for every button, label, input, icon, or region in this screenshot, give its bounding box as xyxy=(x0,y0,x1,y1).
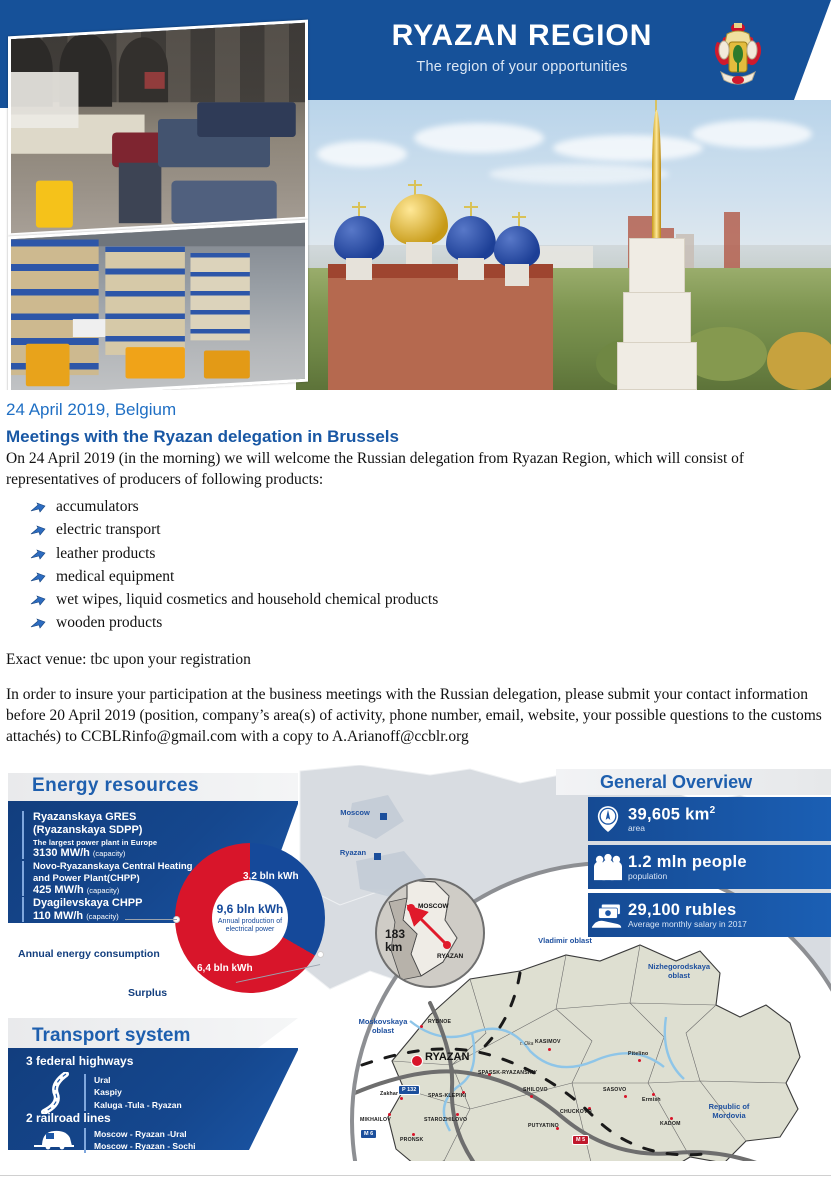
map-label-ryazan-capital: RYAZAN xyxy=(425,1051,469,1063)
inset-distance-unit: km xyxy=(385,940,402,954)
overview-value: 29,100 rubles xyxy=(628,901,747,920)
poster-page: RYAZAN REGION The region of your opportu… xyxy=(0,0,831,1186)
overview-value: 39,605 km2 xyxy=(628,805,715,825)
hero-title-block: RYAZAN REGION The region of your opportu… xyxy=(352,20,692,75)
footer-divider xyxy=(0,1175,831,1176)
overview-row-salary: 29,100 rubles Average monthly salary in … xyxy=(588,893,831,937)
overview-row-area: 39,605 km2 area xyxy=(588,797,831,841)
list-item: wooden products xyxy=(30,611,831,634)
overview-label: area xyxy=(628,823,715,833)
map-label-republic-of-mordovia: Republic of Mordovia xyxy=(690,1103,768,1120)
donut-caption-surplus: Surplus xyxy=(128,987,167,999)
transport-panel-body: 3 federal highways Ural Kaspiy Kaluga -T… xyxy=(8,1048,298,1150)
city-label: RYBNOE xyxy=(428,1019,451,1025)
donut-label-consumption: 6,4 bln kWh xyxy=(197,963,253,974)
assumption-cathedral xyxy=(328,205,553,390)
product-label: electric transport xyxy=(56,521,161,538)
arrow-bullet-icon xyxy=(30,615,48,629)
city-label: SASOVO xyxy=(603,1087,626,1093)
donut-total-label: Annual production of electrical power xyxy=(218,918,282,934)
article-intro: On 24 April 2019 (in the morning) we wil… xyxy=(6,449,825,490)
map-pin-icon xyxy=(588,805,628,833)
arrow-bullet-icon xyxy=(30,592,48,606)
article-heading: Meetings with the Ryazan delegation in B… xyxy=(6,427,831,447)
highway-item: Kaspiy xyxy=(94,1086,182,1098)
venue-text: Exact venue: tbc upon your registration xyxy=(6,650,825,671)
ryazan-capital-dot xyxy=(411,1055,423,1067)
plant-name-line1: Dyagilevskaya CHPP xyxy=(33,897,142,910)
plant-name-line1: Novo-Ryazanskaya Central Heating xyxy=(33,861,192,873)
overview-text: 39,605 km2 area xyxy=(628,805,715,834)
railroad-list: Moscow - Ryazan -Ural Moscow - Ryazan - … xyxy=(84,1128,196,1153)
donut-caption-consumption: Annual energy consumption xyxy=(18,948,160,960)
general-overview-title: General Overview xyxy=(600,772,752,793)
product-label: accumulators xyxy=(56,498,139,515)
highways-title: 3 federal highways xyxy=(26,1054,133,1068)
map-label-nizhegorodskaya-oblast: Nizhegorodskaya oblast xyxy=(640,963,718,980)
product-label: wet wipes, liquid cosmetics and househol… xyxy=(56,591,438,608)
list-item: accumulators xyxy=(30,495,831,518)
overview-value: 1.2 mln people xyxy=(628,853,747,872)
arrow-bullet-icon xyxy=(30,499,48,513)
railroads-title: 2 railroad lines xyxy=(26,1111,111,1125)
arrow-bullet-icon xyxy=(30,569,48,583)
city-label: Ermish xyxy=(642,1097,661,1103)
railroad-item: Moscow - Ryazan -Ural xyxy=(94,1128,196,1140)
city-label: PUTYATINO xyxy=(528,1123,559,1129)
moscow-ryazan-inset: MOSCOW RYAZAN 183 km xyxy=(375,878,485,988)
bell-tower xyxy=(611,100,703,390)
highway-item: Ural xyxy=(94,1074,182,1086)
article-date-location: 24 April 2019, Belgium xyxy=(6,400,831,420)
money-hand-icon xyxy=(588,902,628,929)
road-shield: P 132 xyxy=(398,1085,420,1095)
textile-factory-photo xyxy=(8,20,308,237)
article-content: 24 April 2019, Belgium Meetings with the… xyxy=(0,390,831,747)
power-plant-item: Ryazanskaya GRES (Ryazanskaya SDPP) The … xyxy=(22,811,157,859)
city-label: PRONSK xyxy=(400,1137,423,1143)
donut-label-surplus: 3,2 bln kWh xyxy=(243,871,299,882)
product-list: accumulators electric transport leather … xyxy=(0,495,831,635)
warehouse-photo xyxy=(8,220,308,390)
infographic: Moscow Ryazan xyxy=(0,765,831,1161)
list-item: medical equipment xyxy=(30,565,831,588)
plant-name-line2: and Power Plant(CHPP) xyxy=(33,873,192,885)
map-label-moskovskaya-oblast: Moskovskaya oblast xyxy=(348,1018,418,1035)
inset-label-ryazan: RYAZAN xyxy=(437,953,463,960)
hero-banner: RYAZAN REGION The region of your opportu… xyxy=(0,0,831,390)
page-subtitle: The region of your opportunities xyxy=(352,59,692,75)
river-label-oka: r. Oka xyxy=(520,1041,533,1047)
plant-note: The largest power plant in Europe xyxy=(33,838,157,847)
city-label: Pitelino xyxy=(628,1051,648,1057)
list-item: leather products xyxy=(30,542,831,565)
product-label: wooden products xyxy=(56,614,162,631)
donut-total-value: 9,6 bln kWh xyxy=(217,902,284,916)
list-item: wet wipes, liquid cosmetics and househol… xyxy=(30,588,831,611)
overview-label: population xyxy=(628,871,747,881)
plant-capacity: 425 MW/h (capacity) xyxy=(33,884,192,896)
plant-name-line2: (Ryazanskaya SDPP) xyxy=(33,824,157,837)
inset-distance: 183 km xyxy=(385,928,405,953)
inset-label-moscow: MOSCOW xyxy=(418,903,449,910)
registration-text: In order to insure your participation at… xyxy=(6,685,825,747)
city-label: KADOM xyxy=(660,1121,681,1127)
transport-panel-title: Transport system xyxy=(32,1025,190,1047)
page-title: RYAZAN REGION xyxy=(352,20,692,52)
highway-icon xyxy=(32,1072,76,1114)
city-label: CHUCKOVO xyxy=(560,1109,592,1115)
road-shield: M 6 xyxy=(360,1129,377,1139)
product-label: medical equipment xyxy=(56,568,174,585)
city-label: STAROZHILOVO xyxy=(424,1117,467,1123)
city-label: SHILOVO xyxy=(523,1087,548,1093)
highway-list: Ural Kaspiy Kaluga -Tula - Ryazan xyxy=(84,1074,182,1111)
donut-center: 9,6 bln kWh Annual production of electri… xyxy=(212,880,288,956)
power-plant-item: Novo-Ryazanskaya Central Heating and Pow… xyxy=(22,861,192,896)
ryazan-kremlin-photo xyxy=(296,100,831,390)
city-label: SPASSK-RYAZANSKIY xyxy=(478,1070,537,1076)
map-label-vladimir-oblast: Vladimir oblast xyxy=(520,937,610,946)
overview-row-population: 1.2 mln people population xyxy=(588,845,831,889)
overview-text: 29,100 rubles Average monthly salary in … xyxy=(628,901,747,929)
railroad-item: Moscow - Ryazan - Sochi xyxy=(94,1140,196,1152)
arrow-bullet-icon xyxy=(30,522,48,536)
plant-name-line1: Ryazanskaya GRES xyxy=(33,811,157,824)
ryazan-coat-of-arms-icon xyxy=(703,20,773,94)
product-label: leather products xyxy=(56,545,155,562)
highway-item: Kaluga -Tula - Ryazan xyxy=(94,1099,182,1111)
plant-capacity: 110 MW/h (capacity) xyxy=(33,910,142,922)
overview-text: 1.2 mln people population xyxy=(628,853,747,881)
list-item: electric transport xyxy=(30,518,831,541)
plant-capacity: 3130 MW/h (capacity) xyxy=(33,847,157,859)
people-icon xyxy=(588,853,628,881)
road-shield: M 5 xyxy=(572,1135,589,1145)
city-label: SPAS-KLEPIKI xyxy=(428,1093,466,1099)
energy-panel-title: Energy resources xyxy=(32,775,199,797)
energy-donut-chart: 9,6 bln kWh Annual production of electri… xyxy=(175,843,325,993)
train-icon xyxy=(32,1126,76,1150)
city-label: KASIMOV xyxy=(535,1039,561,1045)
arrow-bullet-icon xyxy=(30,546,48,560)
overview-label: Average monthly salary in 2017 xyxy=(628,919,747,929)
city-label: MIKHAILOV xyxy=(360,1117,391,1123)
